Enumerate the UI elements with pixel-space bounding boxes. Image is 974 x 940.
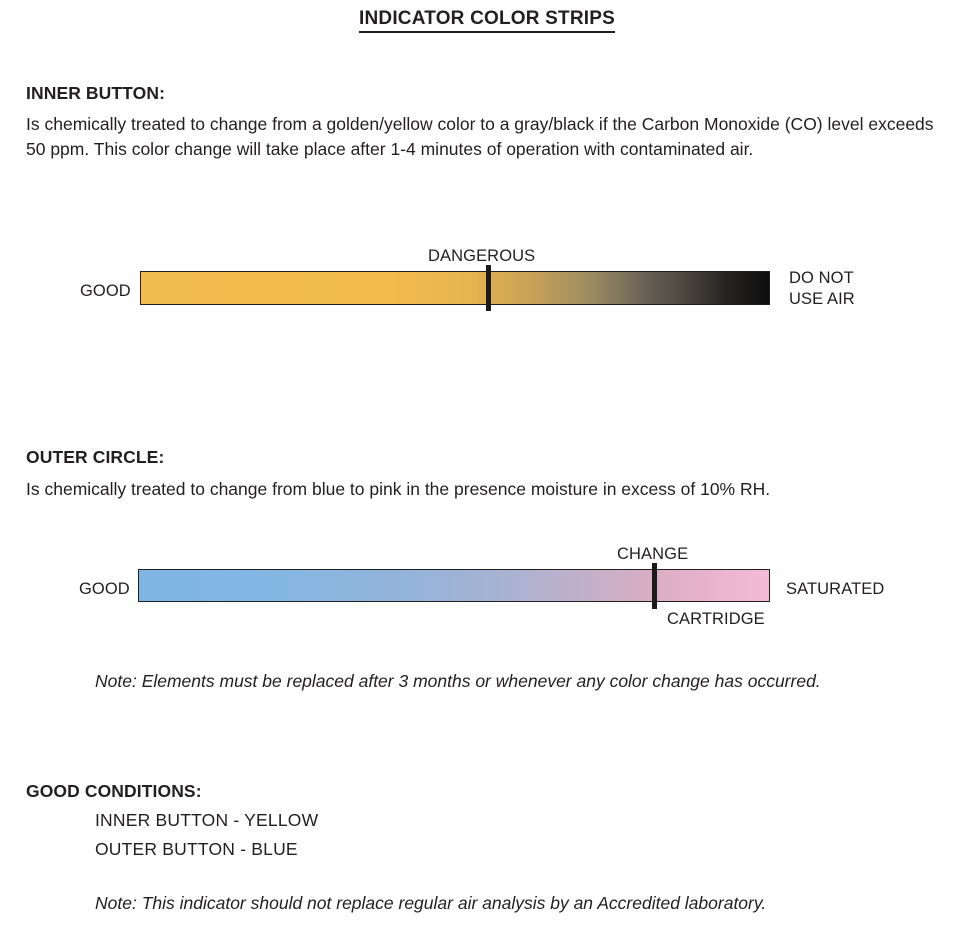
moisture-threshold-marker [652, 563, 657, 609]
outer-circle-heading: OUTER CIRCLE: [26, 447, 164, 468]
carbon-monoxide-label-do-not-use-air: DO NOT USE AIR [789, 268, 855, 310]
moisture-label-change: CHANGE [617, 545, 688, 564]
carbon-monoxide-label-good: GOOD [80, 282, 131, 301]
moisture-label-saturated: SATURATED [786, 580, 884, 599]
note-replacement-interval: Note: Elements must be replaced after 3 … [95, 671, 821, 692]
good-conditions-item-outer-button: OUTER BUTTON - BLUE [95, 839, 298, 860]
good-conditions-item-inner-button: INNER BUTTON - YELLOW [95, 810, 318, 831]
good-conditions-heading: GOOD CONDITIONS: [26, 781, 202, 802]
outer-circle-description: Is chemically treated to change from blu… [26, 477, 956, 502]
carbon-monoxide-label-dangerous: DANGEROUS [428, 247, 535, 266]
moisture-label-cartridge: CARTRIDGE [667, 610, 765, 629]
carbon-monoxide-label-line1: DO NOT [789, 268, 855, 289]
note-accredited-laboratory: Note: This indicator should not replace … [95, 893, 766, 914]
carbon-monoxide-strip [140, 271, 770, 305]
inner-button-heading: INNER BUTTON: [26, 83, 165, 104]
moisture-strip [138, 569, 770, 602]
page-title: INDICATOR COLOR STRIPS [0, 8, 974, 30]
carbon-monoxide-label-line2: USE AIR [789, 289, 855, 310]
page-title-text: INDICATOR COLOR STRIPS [359, 8, 615, 33]
inner-button-description: Is chemically treated to change from a g… [26, 112, 956, 162]
moisture-label-good: GOOD [79, 580, 130, 599]
carbon-monoxide-threshold-marker [486, 265, 491, 311]
